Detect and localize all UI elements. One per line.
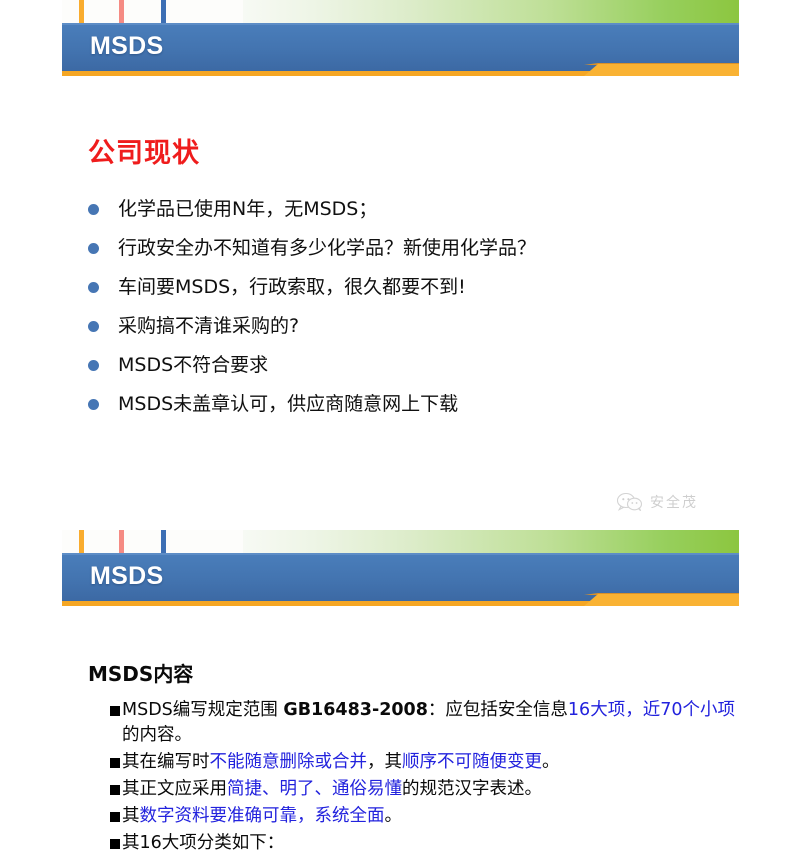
list-item: 车间要MSDS，行政索取，很久都要不到! [88,274,741,300]
slide-1-section-title: 公司现状 [88,131,200,170]
watermark-label: 安全茂 [650,492,698,512]
slide-1-header-title: MSDS [90,32,163,61]
slide-1-bullet-list: 化学品已使用N年，无MSDS； 行政安全办不知道有多少化学品？新使用化学品？ 车… [88,196,741,430]
list-item: 采购搞不清谁采购的? [88,313,741,339]
slide-2-bullet-list: MSDS编写规定范围 GB16483-2008：应包括安全信息16大项，近70个… [110,698,749,858]
slide-1: MSDS 公司现状 化学品已使用N年，无MSDS； 行政安全办不知道有多少化学品… [0,0,801,530]
bullet-dot-icon [88,243,99,254]
list-item-label: 其16大项分类如下： [122,831,284,856]
list-item: 其在编写时不能随意删除或合并，其顺序不可随便变更。 [110,750,749,775]
wechat-icon [617,493,643,511]
header-tick-orange [79,0,84,23]
bullet-square-icon [110,812,120,822]
list-item-label: MSDS编写规定范围 GB16483-2008：应包括安全信息16大项，近70个… [122,698,749,748]
bullet-square-icon [110,706,120,716]
header-green-gradient-strip [243,0,739,23]
header-tick-blue [161,530,166,553]
header-tick-pink [119,0,124,23]
header-orange-tab [584,594,739,606]
bullet-dot-icon [88,321,99,332]
header-orange-tab [584,64,739,76]
slide-1-header: MSDS [0,0,801,82]
bullet-dot-icon [88,360,99,371]
list-item-label: 其在编写时不能随意删除或合并，其顺序不可随便变更。 [122,750,560,775]
header-tick-orange [79,530,84,553]
list-item-label: 行政安全办不知道有多少化学品？新使用化学品？ [118,235,536,261]
bullet-dot-icon [88,282,99,293]
bullet-square-icon [110,758,120,768]
list-item-label: 采购搞不清谁采购的? [118,313,299,339]
list-item: MSDS未盖章认可，供应商随意网上下载 [88,391,741,417]
slide-2-header-title: MSDS [90,562,163,591]
slide-deck: MSDS 公司现状 化学品已使用N年，无MSDS； 行政安全办不知道有多少化学品… [0,0,801,858]
header-tick-blue [161,0,166,23]
list-item-label: 化学品已使用N年，无MSDS； [118,196,377,222]
slide-2-header: MSDS [0,530,801,612]
list-item: MSDS不符合要求 [88,352,741,378]
list-item: 行政安全办不知道有多少化学品？新使用化学品？ [88,235,741,261]
header-tick-pink [119,530,124,553]
list-item-label: MSDS不符合要求 [118,352,268,378]
list-item-label: MSDS未盖章认可，供应商随意网上下载 [118,391,458,417]
list-item-label: 其正文应采用简捷、明了、通俗易懂的规范汉字表述。 [122,777,542,802]
list-item: 其16大项分类如下： [110,831,749,856]
bullet-dot-icon [88,399,99,410]
list-item: 其正文应采用简捷、明了、通俗易懂的规范汉字表述。 [110,777,749,802]
slide-2-section-title: MSDS内容 [88,658,193,687]
list-item: 其数字资料要准确可靠，系统全面。 [110,804,749,829]
bullet-dot-icon [88,204,99,215]
header-green-gradient-strip [243,530,739,553]
bullet-square-icon [110,785,120,795]
list-item: 化学品已使用N年，无MSDS； [88,196,741,222]
header-strip-white [62,530,244,553]
list-item-label: 车间要MSDS，行政索取，很久都要不到! [118,274,466,300]
header-strip-white [62,0,244,23]
list-item-label: 其数字资料要准确可靠，系统全面。 [122,804,402,829]
list-item: MSDS编写规定范围 GB16483-2008：应包括安全信息16大项，近70个… [110,698,749,748]
bullet-square-icon [110,839,120,849]
watermark: 安全茂 [617,492,698,512]
